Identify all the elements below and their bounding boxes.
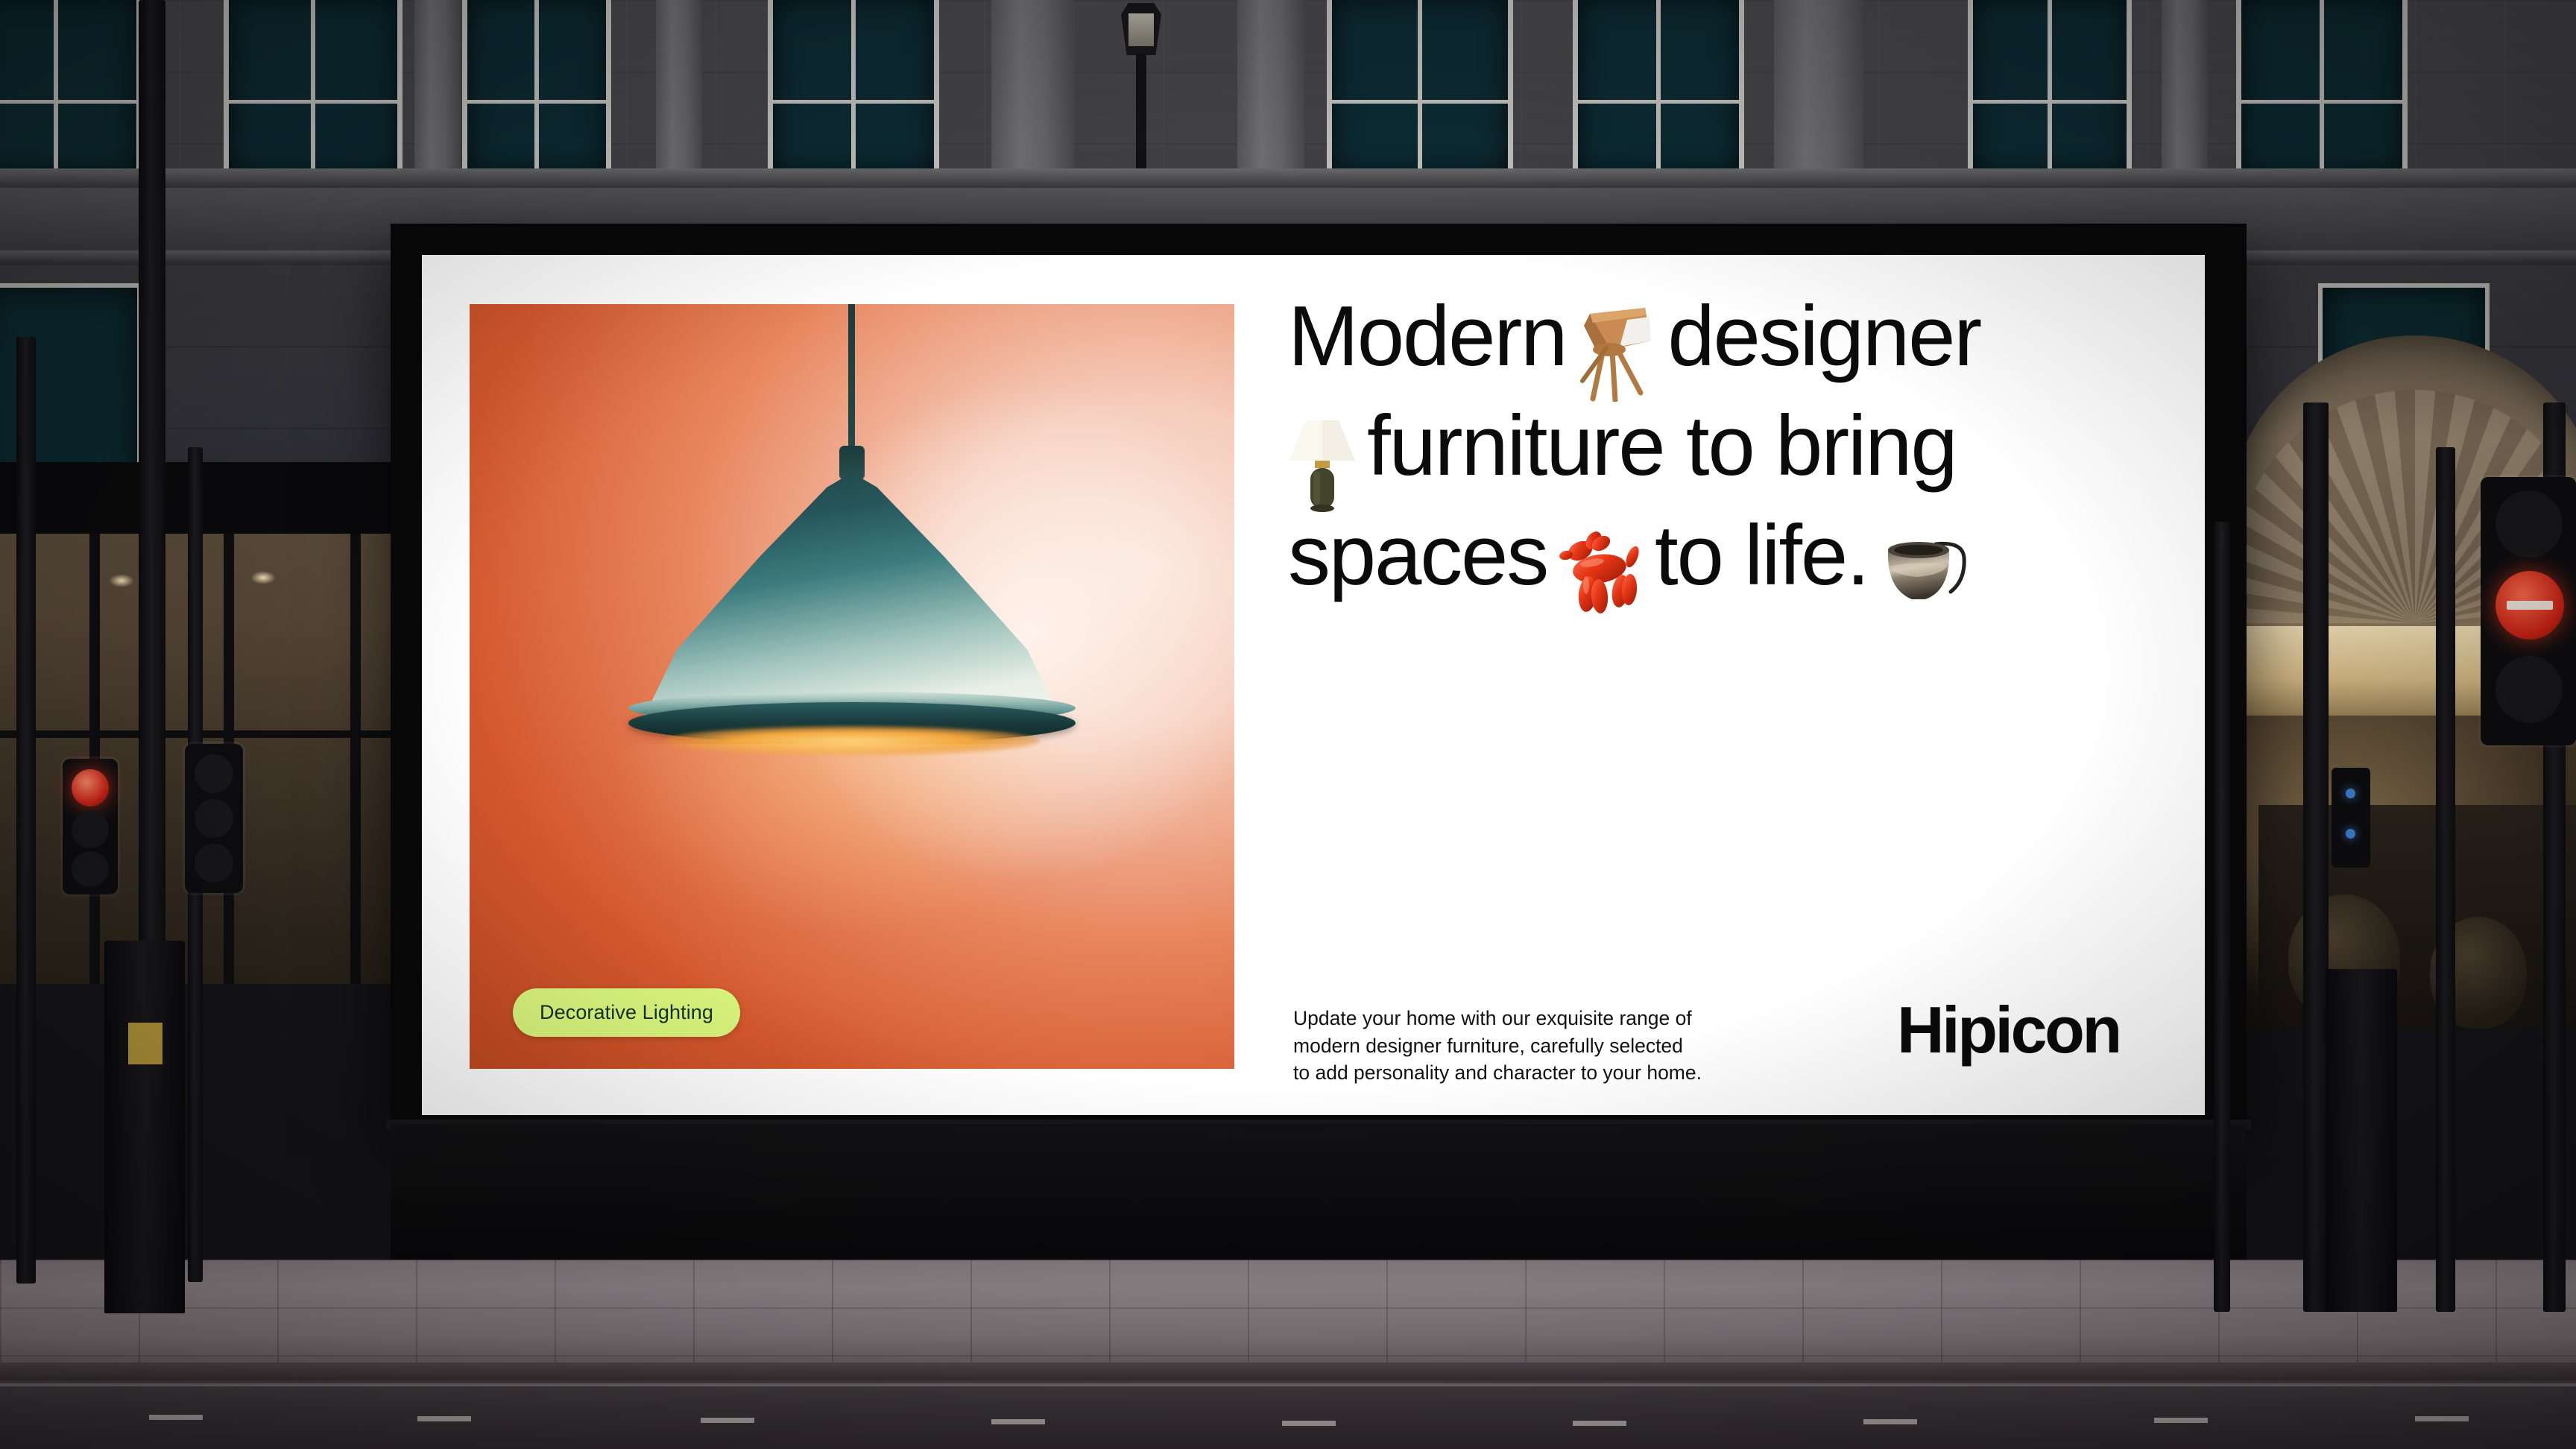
storefront-mullion — [350, 462, 361, 984]
traffic-light — [63, 759, 118, 894]
facade-pilaster — [656, 0, 702, 179]
headline-line2-text: furniture to bring — [1367, 399, 1957, 493]
facade-window — [1327, 0, 1513, 179]
lane-marking — [701, 1418, 754, 1423]
street-lamp-head-icon — [1121, 3, 1161, 55]
facade-pilaster — [2162, 0, 2208, 179]
pedestrian-signal — [2332, 768, 2370, 868]
ad-headline: Modern — [1288, 282, 2190, 610]
headline-word-tolife: to life. — [1655, 508, 1869, 603]
traffic-light — [2481, 477, 2576, 745]
lane-marking — [1573, 1421, 1626, 1426]
facade-window — [0, 0, 142, 179]
headline-word-modern: Modern — [1288, 289, 1566, 384]
lane-marking — [1282, 1421, 1336, 1426]
lane-marking — [417, 1416, 471, 1421]
traffic-light-bottom-lamp — [2495, 656, 2563, 723]
lane-marking — [1863, 1419, 1917, 1424]
paving-slabs — [0, 1260, 2576, 1370]
traffic-light-red-lamp — [195, 754, 233, 793]
traffic-light-green-lamp — [195, 844, 233, 883]
balloon-dog-icon — [1555, 525, 1643, 616]
lane-marking — [149, 1415, 203, 1420]
facade-pilaster — [991, 0, 1073, 179]
headline-line-3: spaces — [1288, 501, 2190, 610]
street-pole — [16, 337, 36, 1284]
body-copy-line-2: modern designer furniture, carefully sel… — [1293, 1032, 1708, 1060]
traffic-light-amber-lamp — [72, 811, 109, 848]
traffic-light-top-lamp — [2495, 490, 2563, 558]
storefront-mullion — [224, 462, 234, 984]
wooden-chair-icon — [1568, 303, 1663, 402]
sidewalk — [0, 1260, 2576, 1370]
no-entry-sign-icon — [2495, 571, 2564, 640]
pendant-lamp-cast-light — [606, 744, 1098, 938]
traffic-light-amber-lamp — [195, 799, 233, 838]
traffic-light — [185, 744, 243, 893]
facade-window — [2236, 0, 2408, 179]
storefront-ceiling-light — [109, 574, 134, 587]
traffic-light-red-lamp — [72, 769, 109, 806]
facade-window — [224, 0, 402, 179]
facade-window — [1573, 0, 1744, 179]
ad-body-copy: Update your home with our exquisite rang… — [1293, 1005, 1708, 1087]
headline-line-2: furniture to bring — [1288, 391, 2190, 501]
bollard-marking — [128, 1023, 162, 1064]
pedestrian-signal-indicator — [2346, 789, 2355, 798]
billboard-base — [391, 1124, 2247, 1266]
curb — [0, 1363, 2576, 1382]
brand-wordmark: Hipicon — [1897, 997, 2120, 1063]
category-badge[interactable]: Decorative Lighting — [513, 988, 740, 1037]
lane-marking — [2415, 1416, 2469, 1421]
pedestrian-signal-indicator — [2346, 829, 2355, 839]
storefront-ceiling-light — [250, 571, 276, 584]
street-pole — [2436, 447, 2455, 1312]
street-pole — [2303, 402, 2329, 1312]
facade-window — [462, 0, 611, 179]
billboard-ad-panel: Decorative Lighting Modern — [422, 255, 2205, 1115]
body-copy-line-3: to add personality and character to your… — [1293, 1059, 1708, 1087]
facade-window — [768, 0, 939, 179]
pendant-lamp-cord — [848, 304, 855, 450]
headline-line-1: Modern — [1288, 282, 2190, 391]
storefront-mullion — [89, 462, 100, 984]
facade-pilaster — [1774, 0, 1863, 179]
lane-marking — [991, 1419, 1045, 1424]
facade-pilaster — [1237, 0, 1304, 179]
lane-marking — [2154, 1418, 2208, 1423]
facade-pilaster — [414, 0, 461, 179]
road — [0, 1380, 2576, 1449]
facade-window — [1968, 0, 2132, 179]
table-lamp-icon — [1288, 414, 1357, 513]
facade-cornice — [0, 168, 2576, 188]
product-image[interactable] — [470, 304, 1234, 1069]
street-pole — [2214, 522, 2230, 1312]
headline-word-spaces: spaces — [1288, 508, 1547, 603]
headline-word-designer: designer — [1667, 289, 1980, 384]
body-copy-line-1: Update your home with our exquisite rang… — [1293, 1005, 1708, 1032]
bollard — [104, 941, 185, 1313]
bronze-pot-icon — [1879, 528, 1974, 611]
street-scene: Decorative Lighting Modern — [0, 0, 2576, 1449]
traffic-light-green-lamp — [72, 851, 109, 887]
bollard — [2326, 969, 2397, 1312]
street-lamp-post — [1136, 54, 1146, 188]
road-edge-line — [0, 1383, 2576, 1386]
